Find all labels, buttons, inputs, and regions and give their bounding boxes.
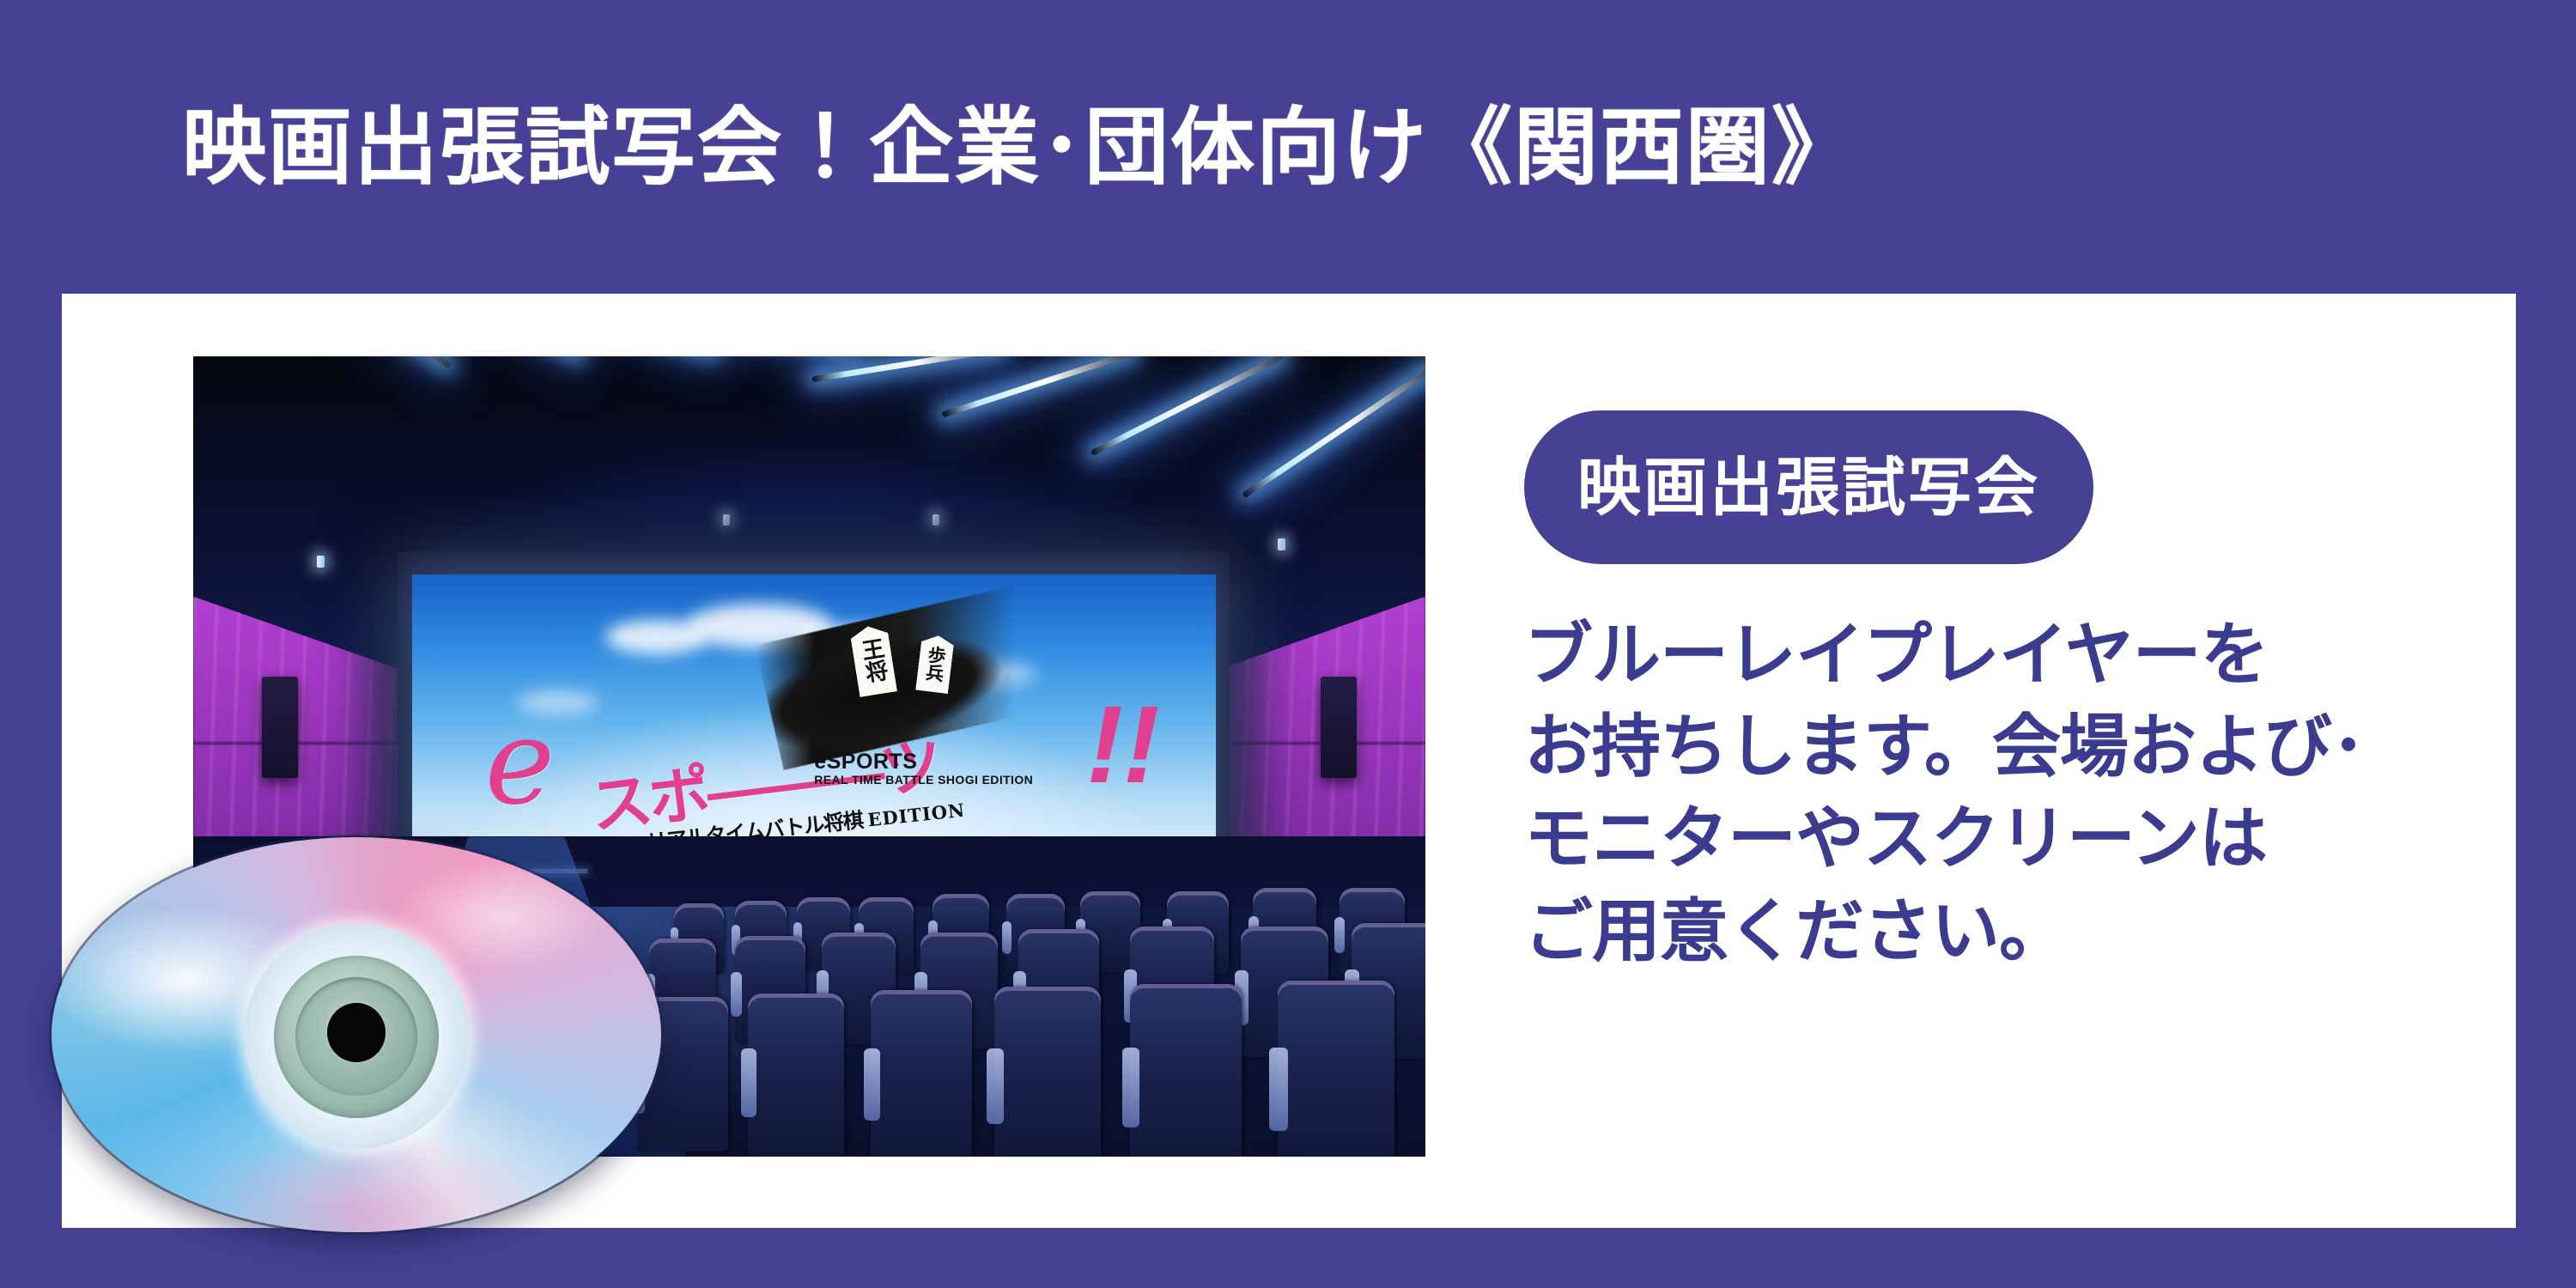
ceiling-led-strip	[941, 356, 1135, 417]
description-line: モニターやスクリーンは	[1524, 793, 2469, 884]
info-panel: 映画出張試写会 ブルーレイプレイヤーを お持ちします。会場および･ モニターやス…	[1524, 410, 2469, 977]
ceiling-led-strip	[811, 356, 1003, 382]
description-text: ブルーレイプレイヤーを お持ちします。会場および･ モニターやスクリーンは ご用…	[1524, 609, 2469, 977]
page-title: 映画出張試写会！企業･団体向け《関西圏》	[182, 105, 1857, 189]
cinema-seat	[748, 993, 844, 1157]
ceiling-led-strip	[1242, 364, 1425, 499]
content-card: 王将 歩兵 e スポ―――ツ !! eSPORTS REAL TIME BATT…	[62, 294, 2516, 1228]
page-header: 映画出張試写会！企業･団体向け《関西圏》	[0, 0, 2576, 294]
logo-english-line2: REAL TIME BATTLE SHOGI EDITION	[814, 774, 1033, 787]
logo-exclamation: !!	[1086, 690, 1159, 800]
front-wall-marker: ◍◍ ◍◍	[391, 855, 451, 867]
seating-area: ◍◍ ◍◍	[193, 836, 1425, 1157]
wall-panel-line	[1204, 742, 1425, 744]
description-line: ご用意ください。	[1524, 885, 2469, 977]
ceiling-led-strip	[256, 356, 452, 368]
logo-letter-e: e	[485, 703, 556, 822]
cinema-seat	[637, 997, 728, 1151]
ceiling-downlight	[723, 514, 730, 526]
wall-panel-line	[193, 742, 415, 744]
cinema-auditorium-photo: 王将 歩兵 e スポ―――ツ !! eSPORTS REAL TIME BATT…	[193, 356, 1425, 1157]
ceiling-downlight	[933, 514, 939, 526]
ceiling-downlight	[1278, 538, 1285, 550]
cinema-seat	[1130, 984, 1242, 1157]
status-badge: 映画出張試写会	[1524, 410, 2093, 564]
logo-subtitle-edition: EDITION	[866, 799, 966, 830]
description-line: お持ちします。会場および･	[1524, 701, 2469, 793]
ceiling-led-strip	[1091, 356, 1285, 456]
cinema-seat	[994, 987, 1101, 1157]
wall-speaker-left	[262, 677, 298, 778]
cinema-seat	[255, 1003, 329, 1140]
description-line: ブルーレイプレイヤーを	[1524, 609, 2469, 701]
wall-speaker-right	[1321, 677, 1357, 778]
logo-english-block: eSPORTS REAL TIME BATTLE SHOGI EDITION	[814, 750, 1033, 786]
front-wall: ◍◍ ◍◍	[193, 836, 1425, 907]
ceiling-downlight	[317, 556, 325, 568]
ceiling-led-strip	[388, 356, 582, 359]
cinema-seat	[1278, 981, 1394, 1157]
logo-english-line1: eSPORTS	[814, 750, 1033, 773]
cinema-seat	[871, 990, 972, 1157]
